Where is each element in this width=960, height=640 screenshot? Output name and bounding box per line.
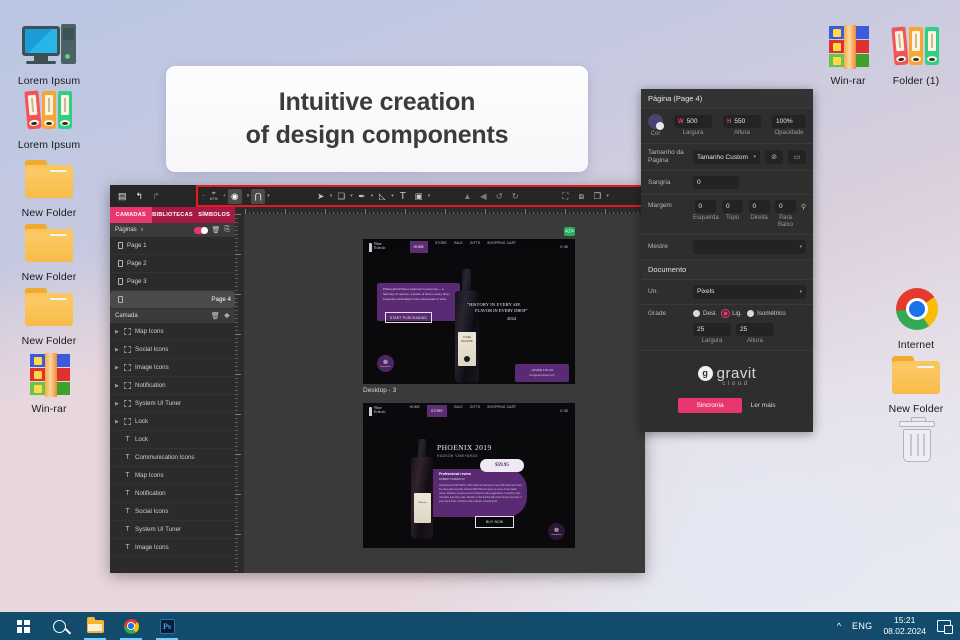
menu-item-gifts[interactable]: GIFTS: [470, 241, 480, 253]
artboard-desktop-3[interactable]: Wine Eclectic HOME STORE SALE GIFTS SHOP…: [363, 239, 575, 384]
margin-bottom-control[interactable]: 0 Para Baixo: [775, 200, 796, 229]
text-layer-icon: T: [124, 508, 131, 515]
recycle-bin-icon: [885, 418, 947, 468]
page-item-label: Page 1: [127, 242, 147, 249]
layer-label: Social Icons: [135, 346, 168, 353]
height-label: Altura: [734, 130, 750, 137]
document-icon: [118, 242, 123, 249]
margin-left-control[interactable]: 0 Esquerda: [693, 200, 717, 222]
desktop-icon-label: New Folder: [889, 403, 944, 415]
start-purchasing-button[interactable]: START PURCHASING: [385, 312, 432, 323]
margin-left-value: 0: [699, 203, 703, 210]
layer-label: Social Icons: [135, 508, 168, 515]
winrar-icon: [18, 350, 80, 400]
chevron-down-icon: ▾: [753, 154, 756, 160]
grid-mode-row: Grade Desl. Lig. Isométrico: [641, 304, 813, 323]
layer-item[interactable]: TImage Icons: [110, 539, 235, 557]
menu-item-store[interactable]: STORE: [435, 241, 447, 253]
text-layer-icon: T: [124, 436, 131, 443]
layer-item[interactable]: TCommunication Icons: [110, 449, 235, 467]
toolbar-highlight-box: – ⌖ 67% + ◉ ▾ ⋂ ▾ ➤ ▾ ❏ ▾: [196, 185, 645, 207]
trash-icon[interactable]: 🗑: [211, 312, 220, 320]
desktop-icon-lorem-ipsum-binders[interactable]: Lorem Ipsum: [6, 86, 92, 151]
windows-taskbar: Ps ^ ENG 15:21 08.02.2024: [0, 612, 960, 640]
menu-item-home[interactable]: HOME: [410, 405, 420, 417]
code-export-badge[interactable]: </>: [564, 227, 575, 236]
document-icon: [118, 278, 123, 285]
plus-icon[interactable]: +: [223, 193, 226, 199]
page-item-2[interactable]: Page 2: [110, 255, 235, 273]
desktop: Lorem Ipsum Lorem Ipsum New Folder New F…: [0, 0, 960, 640]
toolbar-group-arrange: ⛶ ⧈ ❐ ▾: [558, 189, 609, 204]
grid-label: Grade: [648, 310, 688, 318]
chevron-down-icon[interactable]: ▾: [606, 193, 609, 199]
read-more-link[interactable]: Ler mais: [751, 402, 776, 409]
grid-option-label: Desl.: [703, 310, 717, 317]
chevron-down-icon: ▾: [799, 289, 802, 295]
desktop-icon-new-folder-right[interactable]: New Folder: [873, 350, 959, 415]
sync-button[interactable]: Sincronia: [678, 398, 741, 413]
grid-option-label: Lig.: [732, 310, 742, 317]
margin-right-control[interactable]: 0 Direita: [748, 200, 770, 222]
margin-right-label: Direita: [748, 215, 770, 222]
master-label: Mestre: [648, 243, 688, 251]
text-layer-icon: T: [124, 472, 131, 479]
chevron-down-icon[interactable]: ▾: [267, 193, 270, 199]
tab-camadas[interactable]: CAMADAS: [110, 207, 152, 223]
layer-item[interactable]: ▶Notification: [110, 377, 235, 395]
unit-row: Un. Pixels ▾: [641, 279, 813, 304]
grid-option-label: Isométrico: [757, 310, 786, 317]
buy-now-button[interactable]: BUY NOW: [475, 516, 514, 528]
desktop-icon-label: Folder (1): [893, 75, 940, 87]
winrar-icon: [817, 22, 879, 72]
margin-bottom-value: 0: [779, 203, 783, 210]
chevron-right-icon[interactable]: ▶: [115, 329, 120, 335]
chrome-icon: [124, 619, 139, 634]
menu-item-gifts[interactable]: GIFTS: [470, 405, 480, 417]
desktop-icon-internet[interactable]: Internet: [873, 286, 959, 351]
page-item-label: Page 2: [127, 260, 147, 267]
unit-select[interactable]: Pixels ▾: [693, 285, 806, 299]
document-icon: [118, 296, 123, 303]
artboard-label: Desktop - 3: [363, 387, 396, 394]
site-logo: Wine Eclectic: [369, 407, 386, 416]
width-value: 500: [687, 118, 698, 125]
distribute-icon[interactable]: ⛶: [558, 189, 572, 204]
shapes-icon[interactable]: ❏: [334, 189, 348, 204]
page-size-label: Tamanho da Página: [648, 149, 688, 165]
pointer-icon[interactable]: ➤: [314, 189, 328, 204]
folder-icon: [18, 154, 80, 204]
width-input[interactable]: W 500: [674, 115, 712, 128]
grid-width-control[interactable]: 25 Largura: [693, 323, 731, 345]
menu-item-sale[interactable]: SALE: [454, 405, 463, 417]
menu-item-store[interactable]: STORE: [427, 405, 447, 417]
toolbar-group-tools: ➤ ▾ ❏ ▾ ✒ ▾ ◺ ▾ T ▣ ▾: [314, 189, 431, 204]
sommelier-badge: ❁ Sommelier: [548, 523, 565, 540]
grid-width-input[interactable]: 25: [693, 323, 731, 336]
opacity-value: 100%: [776, 118, 793, 125]
gravit-mark-icon: g: [698, 366, 713, 381]
chevron-down-icon[interactable]: ▾: [428, 193, 431, 199]
page-title: Intuitive creation of design components: [246, 86, 509, 152]
toolbar-group-zoom: – ⌖ 67% + ◉: [202, 189, 242, 204]
chevron-right-icon[interactable]: ▶: [115, 401, 120, 407]
layers-list: ▶Map Icons ▶Social Icons ▶Image Icons ▶N…: [110, 323, 235, 573]
bottle-label-name: CUVÉE BLANCHE: [458, 332, 476, 343]
vertical-ruler[interactable]: [235, 214, 244, 573]
margin-top-value: 0: [726, 203, 730, 210]
horizontal-ruler[interactable]: [235, 207, 645, 214]
grid-size-row: 25 Largura 25 Altura: [641, 323, 813, 350]
layer-label: Image Icons: [135, 364, 169, 371]
text-layer-icon: T: [124, 526, 131, 533]
layer-label: System UI Tuner: [135, 526, 181, 533]
margin-top-label: Topo: [723, 215, 743, 222]
image-icon[interactable]: ▣: [412, 189, 426, 204]
panel-tabs: CAMADAS BIBLIOTECAS SÍMBOLOS: [110, 207, 235, 223]
layer-item[interactable]: TSystem UI Tuner: [110, 521, 235, 539]
menu-item-shopping-cart[interactable]: SHOPPING CART: [487, 405, 516, 417]
opacity-input[interactable]: 100%: [772, 115, 806, 128]
margin-top-control[interactable]: 0 Topo: [722, 200, 743, 222]
zoom-icon[interactable]: ⌖ 67%: [207, 189, 221, 204]
sommelier-caption: Sommelier: [551, 534, 561, 536]
gravit-designer-window: ▤ ↰ ↱ – ⌖ 67% + ◉ ▾ ⋂ ▾: [110, 185, 645, 573]
grid-width-value: 25: [697, 326, 704, 333]
contact-phone: +38 (063) 0 00 123: [515, 364, 569, 372]
grid-radio-on[interactable]: Lig.: [722, 310, 742, 317]
chevron-down-icon: ▾: [799, 244, 802, 250]
group-icon: [124, 382, 131, 389]
photoshop-icon: Ps: [160, 619, 175, 634]
layer-label: Map Icons: [135, 472, 164, 479]
layer-label: Notification: [135, 490, 166, 497]
page-item-label: Page 3: [127, 278, 147, 285]
boolean-icon[interactable]: ⧈: [574, 189, 588, 204]
margin-left-input[interactable]: 0: [695, 200, 716, 213]
site-menu: HOME STORE SALE GIFTS SHOPPING CART: [410, 241, 517, 253]
desktop-icon-recycle-bin[interactable]: [873, 418, 959, 471]
search-button[interactable]: [42, 612, 76, 640]
hero-quote: "HISTORY IN EVERY SIP, FLAVOR IN EVERY D…: [467, 302, 567, 321]
group-icon: [124, 364, 131, 371]
folder-icon: [18, 282, 80, 332]
review-title: Professional review: [439, 472, 523, 476]
grid-height-value: 25: [740, 326, 747, 333]
review-body: Composed of 64% Merlot, 18% Cabernet Sau…: [439, 484, 523, 504]
bottle-label-name: Madeira: [414, 493, 431, 505]
page-height-control[interactable]: H 550 Altura: [723, 115, 761, 137]
desktop-icon-label: Lorem Ipsum: [18, 139, 80, 151]
page-size-value: Tamanho Custom: [697, 154, 748, 161]
text-icon[interactable]: T: [396, 189, 410, 204]
search-icon: [53, 620, 66, 633]
properties-panel-title: Página (Page 4): [641, 89, 813, 108]
review-author: ROBERT PARKER 93: [439, 478, 523, 481]
gravit-subtitle: cloud: [659, 380, 813, 387]
show-hidden-icons-chevron-icon[interactable]: ^: [837, 621, 841, 631]
zoom-fit-icon[interactable]: ◉: [228, 189, 242, 204]
folder-icon: [18, 218, 80, 268]
layer-item[interactable]: ▶Lock: [110, 413, 235, 431]
zoom-level: 67%: [210, 197, 218, 201]
sommelier-caption: Sommelier: [380, 366, 390, 368]
sommelier-badge: ❁ Sommelier: [377, 355, 394, 372]
save-icon[interactable]: ▤: [118, 191, 127, 202]
start-button[interactable]: [6, 612, 40, 640]
layer-item[interactable]: TSocial Icons: [110, 503, 235, 521]
radio-dot-icon: [747, 310, 754, 317]
pages-header: Páginas ▾ 🗑 ⎘: [110, 223, 235, 237]
cart-total: 0 / $0: [560, 245, 568, 249]
canvas-area: Wine Eclectic HOME STORE SALE GIFTS SHOP…: [235, 207, 645, 573]
group-icon: [124, 400, 131, 407]
left-panel: CAMADAS BIBLIOTECAS SÍMBOLOS Páginas ▾ 🗑…: [110, 207, 235, 573]
layer-item[interactable]: ▶Image Icons: [110, 359, 235, 377]
radio-dot-icon: [693, 310, 700, 317]
bleed-input[interactable]: 0: [693, 176, 739, 189]
margin-left-label: Esquerda: [693, 215, 717, 222]
desktop-icon-label: New Folder: [22, 335, 77, 347]
binders-icon: [18, 86, 80, 136]
pen-icon[interactable]: ✒: [355, 189, 369, 204]
height-value: 550: [734, 118, 745, 125]
site-navbar: Wine Eclectic HOME STORE SALE GIFTS SHOP…: [363, 239, 575, 255]
unit-value: Pixels: [697, 288, 714, 295]
height-tag: H: [727, 119, 731, 125]
orientation-icon[interactable]: ▭: [788, 150, 806, 164]
page-size-row: Tamanho da Página Tamanho Custom ▾ ⊘ ▭: [641, 143, 813, 170]
clock[interactable]: 15:21 08.02.2024: [883, 615, 926, 636]
menu-item-sale[interactable]: SALE: [454, 241, 463, 253]
headline-line-1: Intuitive creation: [279, 88, 475, 116]
site-logo: Wine Eclectic: [369, 243, 386, 252]
bottle-label: CUVÉE BLANCHE: [458, 332, 476, 366]
page-item-4[interactable]: Page 4: [110, 291, 235, 309]
margin-right-input[interactable]: 0: [749, 200, 770, 213]
grid-height-input[interactable]: 25: [736, 323, 774, 336]
document-icon: [118, 260, 123, 267]
layer-item[interactable]: ▶Social Icons: [110, 341, 235, 359]
tab-bibliotecas[interactable]: BIBLIOTECAS: [152, 207, 194, 223]
menu-item-shopping-cart[interactable]: SHOPPING CART: [487, 241, 516, 253]
layer-label: Notification: [135, 382, 166, 389]
grid-radio-isometric[interactable]: Isométrico: [747, 310, 786, 317]
master-select[interactable]: ▾: [693, 240, 806, 254]
group-icon: [124, 346, 131, 353]
chevron-down-icon[interactable]: ▾: [247, 193, 250, 199]
desktop-icon-new-folder-3[interactable]: New Folder: [6, 282, 92, 347]
desktop-icon-winrar-left[interactable]: Win-rar: [6, 350, 92, 415]
quote-line-2: FLAVOR IN EVERY DROP": [475, 308, 567, 313]
add-layer-icon[interactable]: ❖: [224, 312, 230, 320]
layer-label: Lock: [135, 418, 148, 425]
height-input[interactable]: H 550: [723, 115, 761, 128]
clock-date: 08.02.2024: [883, 626, 926, 637]
chevron-right-icon[interactable]: ▶: [115, 383, 120, 389]
properties-panel: Página (Page 4) Cor W 500 Largura H 550 …: [641, 89, 813, 432]
folder-icon: [885, 350, 947, 400]
promo-text: Philosophical flavor captured in every s…: [377, 283, 460, 303]
clock-time: 15:21: [883, 615, 926, 626]
sommelier-glyph-icon: ❁: [383, 359, 388, 366]
no-preset-icon[interactable]: ⊘: [765, 150, 783, 164]
grid-height-control[interactable]: 25 Altura: [736, 323, 774, 345]
tab-simbolos[interactable]: SÍMBOLOS: [193, 207, 235, 223]
master-row: Mestre ▾: [641, 234, 813, 259]
width-tag: W: [678, 119, 684, 125]
windows-logo-icon: [17, 620, 30, 633]
chrome-button[interactable]: [114, 612, 148, 640]
margin-bottom-label: Para Baixo: [776, 215, 796, 229]
bottle-label: Madeira: [414, 493, 431, 523]
sommelier-glyph-icon: ❁: [554, 527, 559, 534]
contact-mail: wine@eclecticwine.com: [515, 372, 569, 377]
headline-line-2: of design components: [246, 121, 509, 149]
desktop-icon-folder-1[interactable]: Folder (1): [873, 22, 959, 87]
bleed-row: Sangria 0: [641, 170, 813, 194]
chevron-down-icon[interactable]: ▾: [391, 193, 394, 199]
page-appearance-row: Cor W 500 Largura H 550 Altura 100%: [641, 108, 813, 143]
opacity-label: Opacidade: [774, 130, 803, 137]
menu-item-home[interactable]: HOME: [410, 241, 428, 253]
margin-row: Margem 0 Esquerda 0 Topo 0 Direita 0 Par…: [641, 194, 813, 234]
page-item-label: Page 4: [211, 296, 231, 303]
layer-item[interactable]: TLock: [110, 431, 235, 449]
layer-item[interactable]: ▶System UI Tuner: [110, 395, 235, 413]
product-subtitle: HUDSON VINEYARDS: [437, 454, 492, 458]
margin-bottom-input[interactable]: 0: [775, 200, 796, 213]
bleed-value: 0: [697, 179, 701, 186]
bleed-label: Sangria: [648, 179, 688, 187]
product-heading: PHOENIX 2019 HUDSON VINEYARDS: [437, 443, 492, 458]
chevron-down-icon[interactable]: ▾: [330, 193, 333, 199]
page-item-3[interactable]: Page 3: [110, 273, 235, 291]
magnet-icon[interactable]: ⋂: [251, 189, 265, 204]
rotate-cw-icon[interactable]: ↻: [508, 189, 522, 204]
product-title: PHOENIX 2019: [437, 443, 492, 452]
cart-total: 0 / $0: [560, 409, 568, 413]
desktop-icon-lorem-ipsum-computer[interactable]: Lorem Ipsum: [6, 22, 92, 87]
gravit-cloud-section: g gravit cloud Sincronia Ler mais: [641, 350, 813, 423]
chevron-right-icon[interactable]: ▶: [115, 365, 120, 371]
language-indicator[interactable]: ENG: [852, 621, 872, 631]
desktop-icon-label: Win-rar: [31, 403, 66, 415]
pages-list: Page 1 Page 2 Page 3 Page 4: [110, 237, 235, 309]
monitor-icon: [18, 22, 80, 72]
brand-line-2: Eclectic: [374, 411, 386, 415]
page-width-control[interactable]: W 500 Largura: [674, 115, 712, 137]
layers-label: Camada: [115, 313, 211, 319]
action-center-icon[interactable]: [937, 620, 951, 632]
text-layer-icon: T: [124, 454, 131, 461]
document-section-header: Documento: [641, 259, 813, 279]
layer-label: Lock: [135, 436, 148, 443]
site-navbar: Wine Eclectic HOME STORE SALE GIFTS SHOP…: [363, 403, 575, 419]
page-color-control[interactable]: Cor: [648, 114, 663, 138]
layer-item[interactable]: TMap Icons: [110, 467, 235, 485]
desktop-icon-label: Win-rar: [830, 75, 865, 87]
site-menu: HOME STORE SALE GIFTS SHOPPING CART: [410, 405, 517, 417]
link-margins-icon[interactable]: ⚲: [801, 200, 806, 214]
page-size-select[interactable]: Tamanho Custom ▾: [693, 150, 760, 164]
flip-icon[interactable]: ◀: [476, 189, 490, 204]
folder-icon: [87, 620, 104, 633]
redo-icon[interactable]: ↱: [152, 191, 160, 202]
quote-year: 2024: [507, 316, 567, 321]
app-toolbar: ▤ ↰ ↱ – ⌖ 67% + ◉ ▾ ⋂ ▾: [110, 185, 645, 207]
color-swatch[interactable]: [648, 114, 663, 129]
layer-item[interactable]: TNotification: [110, 485, 235, 503]
width-label: Largura: [683, 130, 704, 137]
layer-label: Map Icons: [135, 328, 164, 335]
add-page-icon[interactable]: ⎘: [224, 226, 230, 234]
contact-box: +38 (063) 0 00 123 wine@eclecticwine.com: [515, 364, 569, 382]
file-explorer-button[interactable]: [78, 612, 112, 640]
toolbar-group-view: ▾ ⋂ ▾: [247, 189, 270, 204]
artboard-desktop-4[interactable]: Wine Eclectic HOME STORE SALE GIFTS SHOP…: [363, 403, 575, 548]
text-layer-icon: T: [124, 544, 131, 551]
undo-icon[interactable]: ↰: [136, 191, 144, 202]
brand-line-2: Eclectic: [374, 247, 386, 251]
chevron-down-icon[interactable]: ▾: [350, 193, 353, 199]
design-canvas[interactable]: Wine Eclectic HOME STORE SALE GIFTS SHOP…: [244, 214, 645, 573]
warp-icon[interactable]: ▲: [460, 189, 474, 204]
desktop-icon-new-folder-1[interactable]: New Folder: [6, 154, 92, 219]
knife-icon[interactable]: ◺: [375, 189, 389, 204]
headline-card: Intuitive creation of design components: [166, 66, 588, 172]
toolbar-group-transform: ▲ ◀ ↺ ↻: [460, 189, 522, 204]
color-label: Cor: [651, 131, 661, 138]
chevron-down-icon[interactable]: ▾: [141, 227, 144, 233]
margin-right-value: 0: [753, 203, 757, 210]
layer-label: System UI Tuner: [135, 400, 181, 407]
binders-icon: [885, 22, 947, 72]
layer-label: Image Icons: [135, 544, 169, 551]
rotate-ccw-icon[interactable]: ↺: [492, 189, 506, 204]
layer-label: Communication Icons: [135, 454, 195, 461]
layers-header: Camada 🗑 ❖: [110, 309, 235, 323]
layers-icon[interactable]: ❐: [590, 189, 604, 204]
unit-label: Un.: [648, 288, 688, 296]
group-icon: [124, 328, 131, 335]
trash-icon[interactable]: 🗑: [212, 226, 221, 234]
review-block: Professional review ROBERT PARKER 93 Com…: [439, 472, 523, 504]
quote-line-1: "HISTORY IN EVERY SIP,: [467, 302, 567, 307]
grid-width-label: Largura: [702, 338, 723, 345]
pages-visibility-toggle[interactable]: [194, 227, 208, 234]
desktop-icon-new-folder-2[interactable]: New Folder: [6, 218, 92, 283]
price-badge: $59.95: [480, 459, 524, 472]
minus-icon[interactable]: –: [202, 193, 205, 199]
text-layer-icon: T: [124, 490, 131, 497]
page-item-1[interactable]: Page 1: [110, 237, 235, 255]
page-opacity-control[interactable]: 100% Opacidade: [772, 115, 806, 137]
radio-dot-icon: [722, 310, 729, 317]
chevron-down-icon[interactable]: ▾: [371, 193, 374, 199]
pages-label: Páginas: [115, 227, 137, 233]
chevron-right-icon[interactable]: ▶: [115, 419, 120, 425]
group-icon: [124, 418, 131, 425]
layer-item[interactable]: ▶Map Icons: [110, 323, 235, 341]
chrome-icon: [885, 286, 947, 336]
margin-top-input[interactable]: 0: [722, 200, 743, 213]
chevron-right-icon[interactable]: ▶: [115, 347, 120, 353]
grid-radio-off[interactable]: Desl.: [693, 310, 717, 317]
photoshop-button[interactable]: Ps: [150, 612, 184, 640]
